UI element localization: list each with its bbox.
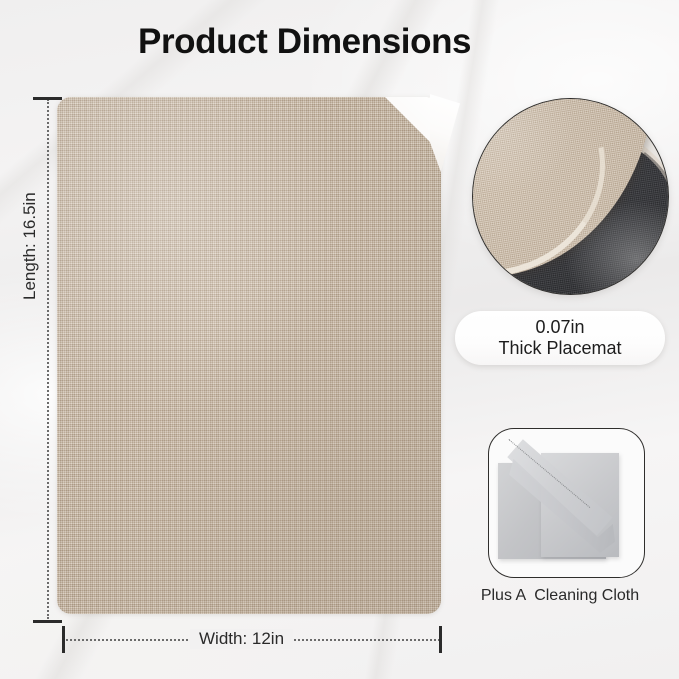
length-dimension-line [47,99,49,619]
cleaning-cloth-caption: Plus A Cleaning Cloth [455,587,665,605]
placemat-sheen [57,97,441,614]
thickness-value: 0.07in [535,318,584,337]
width-dimension-cap-right [439,626,442,653]
placemat-image [57,97,441,614]
thickness-description: Thick Placemat [498,338,621,358]
cleaning-cloth-image [488,428,645,578]
rolled-placemat-closeup [472,98,669,295]
length-dimension-cap-bottom [33,620,62,623]
width-dimension-cap-left [62,626,65,653]
length-dimension-cap-top [33,97,62,100]
product-dimensions-infographic: Product Dimensions Length: 16.5in Width:… [0,0,679,679]
width-dimension-label: Width: 12in [190,629,293,649]
thickness-callout-badge: 0.07in Thick Placemat [455,311,665,365]
length-dimension-label: Length: 16.5in [20,192,40,300]
page-title: Product Dimensions [138,22,471,62]
